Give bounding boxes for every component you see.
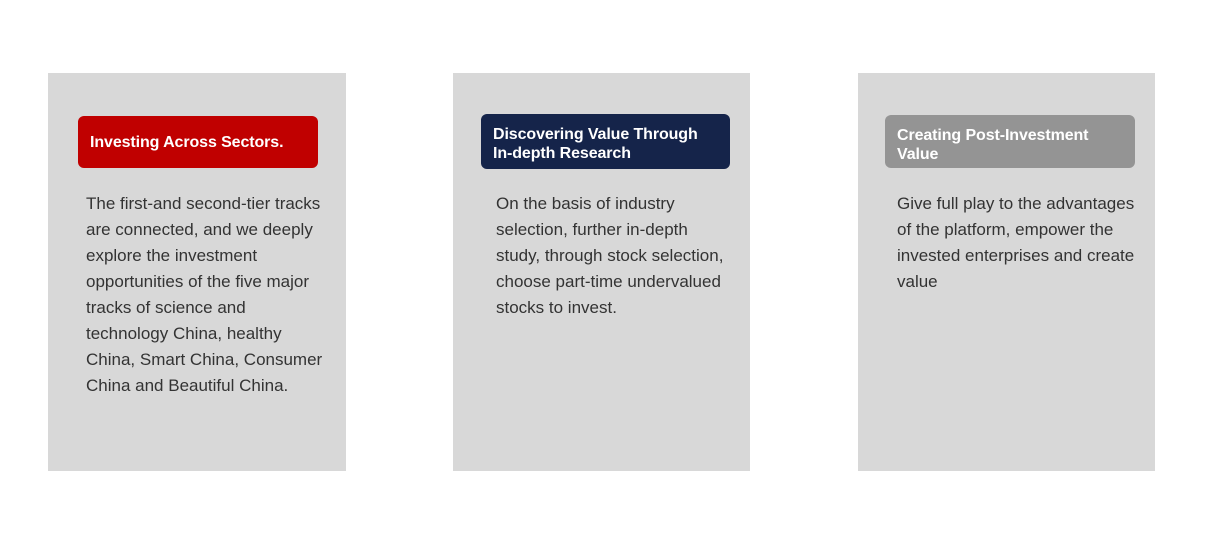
card-body-text: The first-and second-tier tracks are con… <box>86 191 326 399</box>
feature-card-discovering-value-through-in-depth-research: Discovering Value Through In-depth Resea… <box>453 73 750 471</box>
card-badge-creating-post-investment-value: Creating Post-Investment Value <box>885 115 1135 168</box>
card-badge-label: Creating Post-Investment Value <box>897 126 1123 164</box>
feature-card-creating-post-investment-value: Creating Post-Investment Value Give full… <box>858 73 1155 471</box>
card-badge-label: Discovering Value Through In-depth Resea… <box>493 125 718 163</box>
card-body-text: On the basis of industry selection, furt… <box>496 191 726 321</box>
card-badge-investing-across-sectors: Investing Across Sectors. <box>78 116 318 168</box>
card-body-text: Give full play to the advantages of the … <box>897 191 1137 295</box>
card-badge-label: Investing Across Sectors. <box>90 133 306 152</box>
feature-card-investing-across-sectors: Investing Across Sectors. The first-and … <box>48 73 346 471</box>
card-badge-discovering-value-through-in-depth-research: Discovering Value Through In-depth Resea… <box>481 114 730 169</box>
slide-canvas: Investing Across Sectors. The first-and … <box>0 0 1212 558</box>
